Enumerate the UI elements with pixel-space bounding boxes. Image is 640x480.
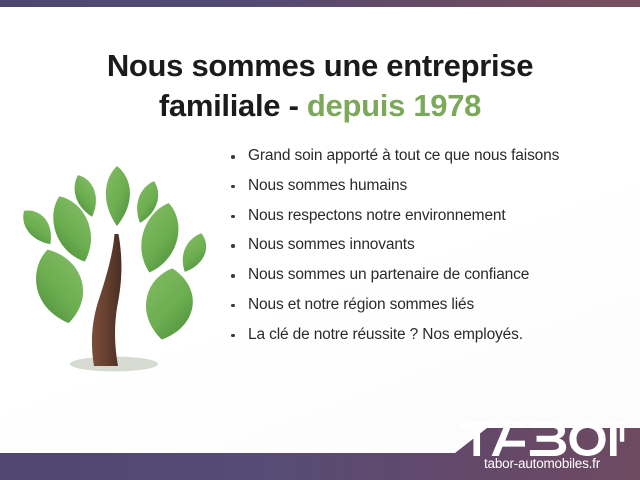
list-item: Nous sommes un partenaire de confiance (228, 267, 628, 283)
page-title-accent: depuis 1978 (307, 88, 481, 123)
slide-canvas: Nous sommes une entreprisefamiliale - de… (0, 0, 640, 480)
list-item: Nous respectons notre environnement (228, 208, 628, 224)
brand-logo[interactable]: tabor-automobiles.fr (458, 422, 626, 472)
top-accent-strip (0, 0, 640, 7)
benefits-list: Grand soin apporté à tout ce que nous fa… (228, 148, 628, 356)
tree-illustration (14, 150, 219, 390)
list-item: Grand soin apporté à tout ce que nous fa… (228, 148, 628, 164)
page-title-line2-static: familiale - (159, 88, 307, 123)
logo-tagline: tabor-automobiles.fr (458, 457, 626, 472)
list-item: Nous sommes innovants (228, 237, 628, 253)
page-title-line2: familiale - depuis 1978 (0, 86, 640, 126)
page-title: Nous sommes une entreprisefamiliale - de… (0, 46, 640, 126)
tree-trunk (92, 234, 122, 366)
logo-wordmark-tabor (458, 422, 626, 456)
page-title-line1: Nous sommes une entreprise (107, 48, 533, 83)
list-item: La clé de notre réussite ? Nos employés. (228, 327, 628, 343)
list-item: Nous sommes humains (228, 178, 628, 194)
list-item: Nous et notre région sommes liés (228, 297, 628, 313)
footer-banner: tabor-automobiles.fr (0, 400, 640, 480)
